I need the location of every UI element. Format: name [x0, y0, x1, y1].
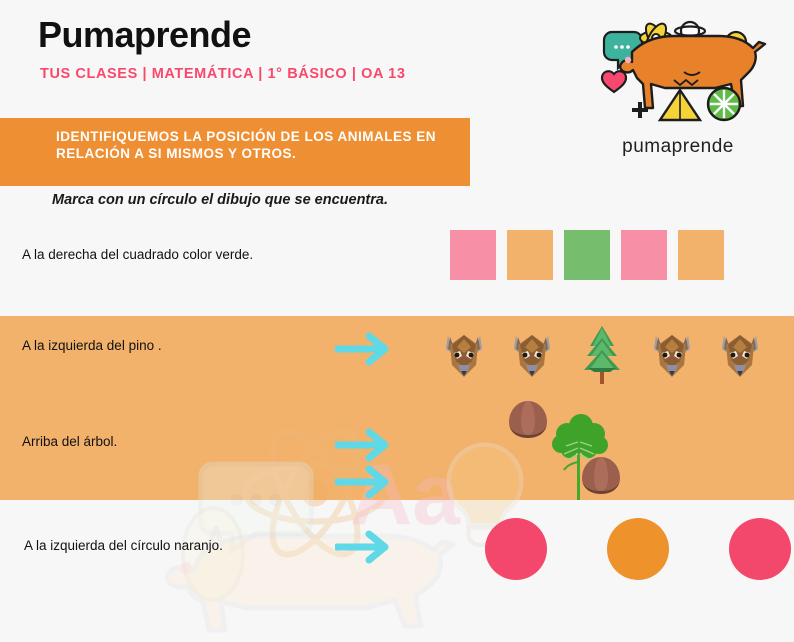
arrow-right-icon: [335, 332, 397, 368]
green-square[interactable]: [564, 230, 610, 280]
objective-banner: IDENTIFIQUEMOS LA POSICIÓN DE LOS ANIMAL…: [0, 118, 470, 186]
worksheet-page: Aa Pumaprende TUS CLASES | MATEMÁTICA | …: [0, 0, 794, 599]
breadcrumb: TUS CLASES | MATEMÁTICA | 1° BÁSICO | OA…: [40, 66, 405, 82]
exercise-row-1: A la derecha del cuadrado color verde.: [0, 225, 794, 315]
pine-tree-icon[interactable]: [576, 324, 628, 386]
wolf-head-icon[interactable]: [508, 327, 556, 383]
exercise-label-2: A la izquierda del pino .: [22, 338, 162, 353]
brand-logo: Aa: [588, 14, 768, 162]
arrow-right-icon: [335, 428, 397, 464]
exercise-items-1: [450, 230, 724, 280]
page-title: Pumaprende: [38, 14, 251, 56]
objective-text: IDENTIFIQUEMOS LA POSICIÓN DE LOS ANIMAL…: [56, 128, 456, 162]
exercise-items-4: [485, 518, 791, 580]
orange-square[interactable]: [678, 230, 724, 280]
heart-icon: [602, 71, 626, 92]
exercise-row-2: A la izquierda del pino .: [0, 316, 794, 396]
pink-square[interactable]: [450, 230, 496, 280]
exercise-row-3: Arriba del árbol.: [0, 396, 794, 500]
puma-logo-illustration: Aa: [588, 14, 768, 139]
puma-icon: [620, 36, 765, 108]
wolf-head-icon[interactable]: [648, 327, 696, 383]
pink-circle[interactable]: [485, 518, 547, 580]
exercise-label-4: A la izquierda del círculo naranjo.: [24, 538, 223, 553]
logo-wordmark: pumaprende: [588, 136, 768, 158]
pink-circle[interactable]: [729, 518, 791, 580]
acorn-icon[interactable]: [505, 398, 551, 444]
wolf-head-icon[interactable]: [716, 327, 764, 383]
instruction-text: Marca con un círculo el dibujo que se en…: [52, 192, 388, 208]
orange-circle[interactable]: [607, 518, 669, 580]
orange-square[interactable]: [507, 230, 553, 280]
acorn-icon[interactable]: [578, 454, 624, 500]
exercise-items-2: [440, 324, 764, 386]
exercise-label-3: Arriba del árbol.: [22, 434, 117, 449]
arrow-right-icon: [335, 530, 397, 566]
exercise-label-1: A la derecha del cuadrado color verde.: [22, 247, 253, 262]
wolf-head-icon[interactable]: [440, 327, 488, 383]
green-circle-icon: [708, 88, 740, 120]
exercise-row-4: A la izquierda del círculo naranjo.: [0, 500, 794, 599]
pink-square[interactable]: [621, 230, 667, 280]
